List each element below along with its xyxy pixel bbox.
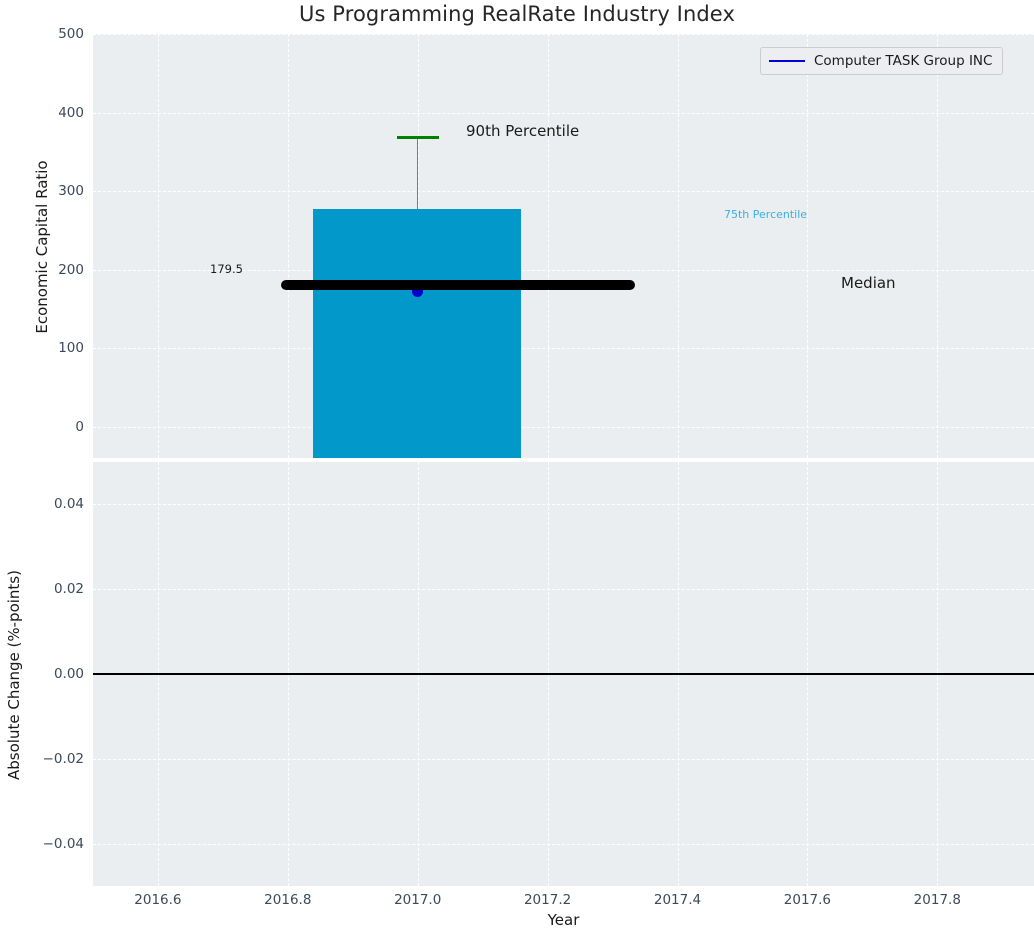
y-tick-label: 0.02 bbox=[54, 581, 84, 597]
x-axis-label: Year bbox=[93, 911, 1034, 929]
x-tick-label: 2017.0 bbox=[394, 892, 441, 908]
y-axis-label-bottom: Absolute Change (%-points) bbox=[5, 465, 23, 885]
x-tick-label: 2016.6 bbox=[134, 892, 181, 908]
y-tick-label: 0.00 bbox=[54, 666, 84, 682]
y-tick-label: −0.02 bbox=[43, 751, 84, 767]
gridline-vertical bbox=[158, 34, 159, 458]
gridline-vertical bbox=[678, 34, 679, 458]
y-tick-label: 0 bbox=[75, 419, 84, 435]
x-tick-label: 2016.8 bbox=[264, 892, 311, 908]
y-tick-label: 200 bbox=[58, 262, 84, 278]
gridline-horizontal bbox=[93, 504, 1034, 505]
y-tick-label: 0.04 bbox=[54, 496, 84, 512]
gridline-vertical bbox=[288, 34, 289, 458]
y-axis-label-top: Economic Capital Ratio bbox=[33, 37, 51, 457]
x-tick-label: 2017.8 bbox=[914, 892, 961, 908]
chart-title: Us Programming RealRate Industry Index bbox=[0, 2, 1034, 26]
y-tick-label: 400 bbox=[58, 105, 84, 121]
zero-reference-line bbox=[93, 673, 1034, 675]
annotation-median: Median bbox=[841, 274, 896, 292]
gridline-horizontal bbox=[93, 191, 1034, 192]
gridline-horizontal bbox=[93, 589, 1034, 590]
chart-legend[interactable]: Computer TASK Group INC bbox=[760, 47, 1003, 75]
gridline-horizontal bbox=[93, 844, 1034, 845]
chart-figure: Us Programming RealRate Industry Index bbox=[0, 0, 1034, 942]
legend-line-swatch-icon bbox=[769, 60, 805, 62]
gridline-vertical bbox=[548, 34, 549, 458]
y-tick-label: −0.04 bbox=[43, 836, 84, 852]
annotation-90th-percentile: 90th Percentile bbox=[466, 122, 579, 140]
x-tick-label: 2017.6 bbox=[784, 892, 831, 908]
y-tick-label: 100 bbox=[58, 340, 84, 356]
gridline-horizontal bbox=[93, 427, 1034, 428]
annotation-median-value: 179.5 bbox=[210, 262, 243, 276]
gridline-vertical bbox=[937, 34, 938, 458]
x-tick-label: 2017.2 bbox=[524, 892, 571, 908]
plot-area-economic-capital-ratio bbox=[93, 34, 1034, 458]
y-tick-label: 500 bbox=[58, 26, 84, 42]
gridline-vertical bbox=[807, 34, 808, 458]
legend-label: Computer TASK Group INC bbox=[814, 53, 992, 69]
plot-area-absolute-change bbox=[93, 462, 1034, 886]
annotation-75th-percentile: 75th Percentile bbox=[724, 208, 807, 221]
percentile-75-bar bbox=[313, 209, 521, 458]
gridline-horizontal bbox=[93, 113, 1034, 114]
x-tick-label: 2017.4 bbox=[654, 892, 701, 908]
gridline-horizontal bbox=[93, 34, 1034, 35]
median-marker-line bbox=[281, 280, 635, 290]
gridline-horizontal bbox=[93, 348, 1034, 349]
y-tick-label: 300 bbox=[58, 183, 84, 199]
percentile-90-cap-marker bbox=[397, 136, 439, 139]
gridline-horizontal bbox=[93, 759, 1034, 760]
